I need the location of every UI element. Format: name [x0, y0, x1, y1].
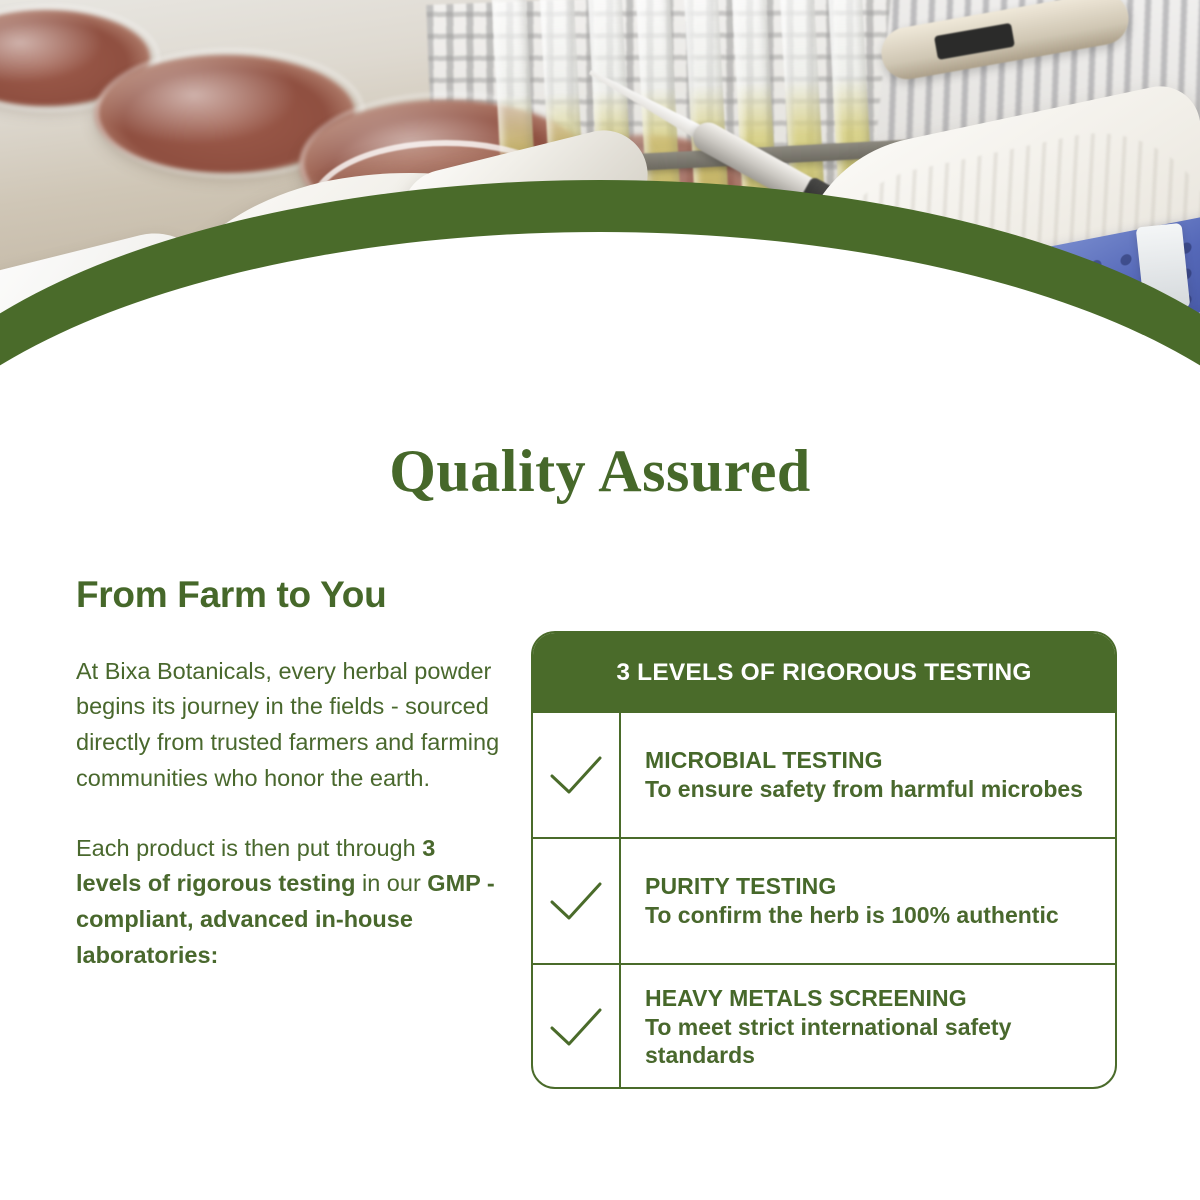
check-mark-icon [547, 752, 605, 798]
testing-level-title: HEAVY METALS SCREENING [645, 986, 1101, 1012]
check-mark-icon [547, 878, 605, 924]
card-header: 3 LEVELS OF RIGOROUS TESTING [533, 633, 1115, 713]
check-cell [533, 713, 621, 837]
testing-levels-card: 3 LEVELS OF RIGOROUS TESTING MICROBIAL T… [531, 631, 1117, 1089]
left-column: From Farm to You At Bixa Botanicals, eve… [76, 575, 506, 1007]
testing-level-row: HEAVY METALS SCREENINGTo meet strict int… [533, 963, 1115, 1089]
testing-level-description: To confirm the herb is 100% authentic [645, 901, 1059, 929]
testing-level-text: MICROBIAL TESTINGTo ensure safety from h… [621, 713, 1097, 837]
testing-level-row: MICROBIAL TESTINGTo ensure safety from h… [533, 713, 1115, 837]
testing-level-description: To ensure safety from harmful microbes [645, 775, 1083, 803]
card-header-label: 3 LEVELS OF RIGOROUS TESTING [616, 659, 1031, 687]
paragraph-one: At Bixa Botanicals, every herbal powder … [76, 654, 506, 797]
check-mark-icon [547, 1004, 605, 1050]
testing-level-description: To meet strict international safety stan… [645, 1013, 1101, 1069]
testing-level-text: HEAVY METALS SCREENINGTo meet strict int… [621, 965, 1115, 1089]
page-title: Quality Assured [0, 437, 1200, 506]
section-heading: From Farm to You [76, 575, 506, 616]
testing-level-text: PURITY TESTINGTo confirm the herb is 100… [621, 839, 1073, 963]
testing-level-title: MICROBIAL TESTING [645, 748, 1083, 774]
check-cell [533, 839, 621, 963]
plain-text: in our [355, 870, 427, 896]
card-rows: MICROBIAL TESTINGTo ensure safety from h… [533, 713, 1115, 1089]
hero-banner [0, 0, 1200, 500]
infographic-page: Quality Assured From Farm to You At Bixa… [0, 0, 1200, 1200]
paragraph-two: Each product is then put through 3 level… [76, 831, 506, 974]
testing-level-row: PURITY TESTINGTo confirm the herb is 100… [533, 837, 1115, 963]
plain-text: Each product is then put through [76, 835, 422, 861]
check-cell [533, 965, 621, 1089]
testing-level-title: PURITY TESTING [645, 874, 1059, 900]
